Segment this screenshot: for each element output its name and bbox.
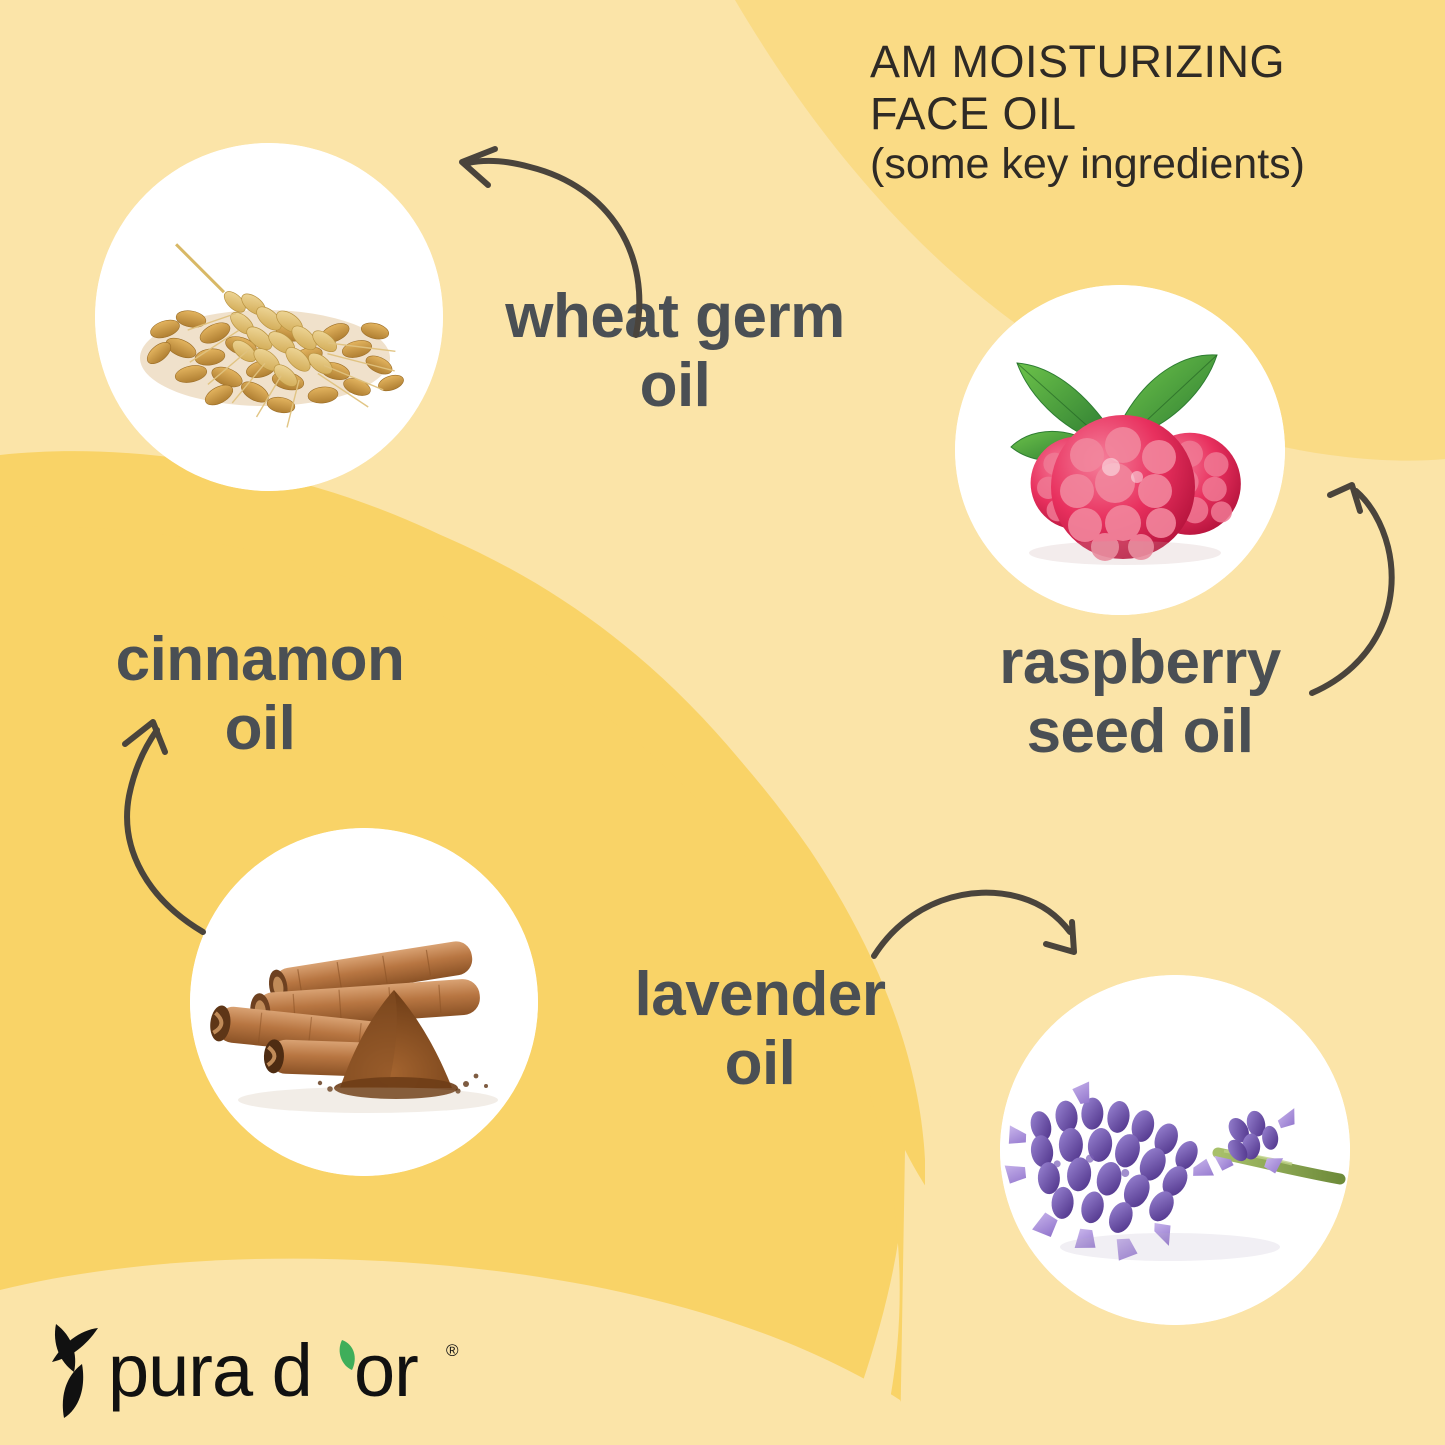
raspberries-with-leaves-photo (955, 285, 1285, 615)
label-line: oil (560, 1029, 960, 1098)
curved-arrow-to-wheat-germ (420, 135, 660, 295)
pura-dor-leaf-mark (52, 1324, 98, 1418)
wheat-grains-and-sheaf-photo (95, 143, 443, 491)
curved-arrow-to-lavender (860, 880, 1110, 1000)
brand-logo: pura d or ® (42, 1318, 512, 1428)
infographic-canvas: AM MOISTURIZING FACE OIL (some key ingre… (0, 0, 1445, 1445)
header-block: AM MOISTURIZING FACE OIL (some key ingre… (870, 36, 1430, 190)
lavender-sprig-photo (1000, 975, 1350, 1325)
ingredient-circle-lavender (1000, 975, 1350, 1325)
curved-arrow-to-raspberry-seed (1280, 455, 1445, 715)
label-line: cinnamon (60, 625, 460, 694)
label-wheat-germ-oil: wheat germ oil (455, 282, 895, 421)
logo-wordmark-tail: or (354, 1329, 418, 1412)
ingredient-circle-raspberry-seed (955, 285, 1285, 615)
logo-wordmark: pura d (108, 1329, 312, 1412)
registered-trademark-icon: ® (446, 1341, 459, 1360)
curved-arrow-to-cinnamon (95, 700, 255, 940)
header-line-2: FACE OIL (870, 88, 1430, 140)
header-line-1: AM MOISTURIZING (870, 36, 1430, 88)
header-line-3: (some key ingredients) (870, 140, 1430, 190)
ingredient-circle-wheat-germ (95, 143, 443, 491)
logo-leaf-apostrophe-icon (340, 1340, 355, 1370)
label-line: oil (455, 351, 895, 420)
